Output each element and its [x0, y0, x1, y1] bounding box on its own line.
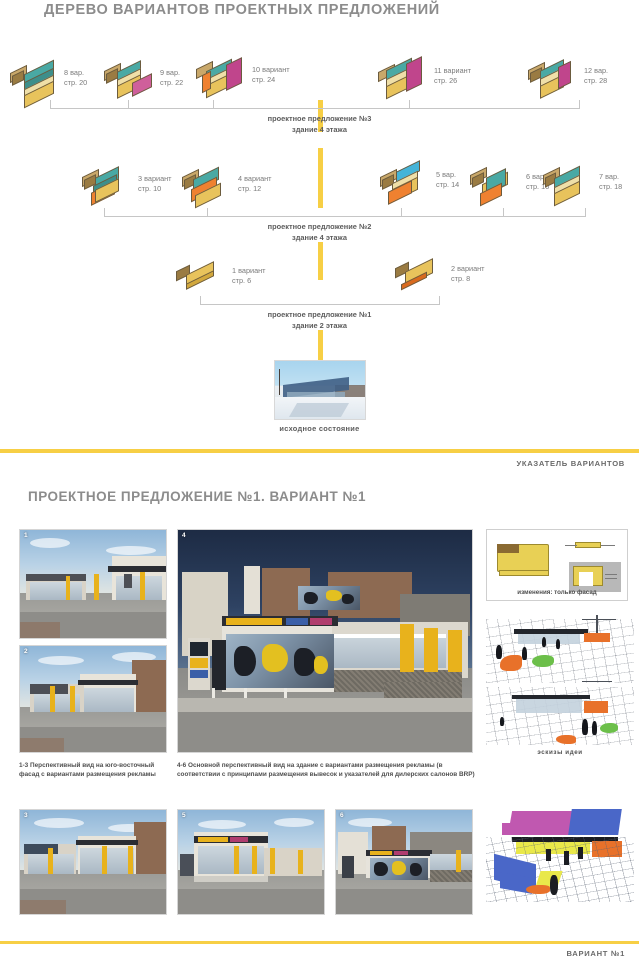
tier-caption: проектное предложение №3 здание 4 этажа — [0, 113, 639, 135]
sketches-caption: эскизы идеи — [486, 749, 634, 756]
roof-banner — [298, 586, 360, 610]
massing-icon — [104, 58, 156, 98]
photo-number: 5 — [182, 812, 186, 819]
variant-node[interactable]: 4 вариант стр. 12 — [182, 164, 272, 204]
caption-left: 1-3 Перспективный вид на юго-восточный ф… — [19, 761, 165, 780]
variant-label: 11 вариант стр. 26 — [434, 66, 471, 86]
massing-icon — [378, 56, 430, 96]
massing-icon — [380, 160, 432, 200]
page-title: ДЕРЕВО ВАРИАНТОВ ПРОЕКТНЫХ ПРЕДЛОЖЕНИЙ — [44, 2, 440, 18]
spine-segment-middle — [318, 148, 323, 208]
variant-node[interactable]: 6 вар. стр. 16 — [470, 162, 549, 202]
spine-segment-lower — [318, 242, 323, 280]
variant-label: 2 вариант стр. 8 — [451, 264, 485, 284]
variant-label: 5 вар. стр. 14 — [436, 170, 459, 190]
variant-label: 3 вариант стр. 10 — [138, 174, 172, 194]
variant-node[interactable]: 7 вар. стр. 18 — [543, 162, 622, 202]
render-thumbnail-6[interactable]: 6 — [335, 809, 473, 915]
facade-change-diagram[interactable]: изменения: только фасад — [486, 529, 628, 601]
tier-bracket — [200, 296, 440, 305]
existing-state-photo[interactable] — [274, 360, 366, 420]
massing-icon — [528, 56, 580, 96]
photo-number: 3 — [24, 812, 28, 819]
variant-node[interactable]: 10 вариант стр. 24 — [196, 55, 290, 95]
massing-icon — [395, 254, 447, 294]
massing-icon — [8, 58, 60, 98]
variant-label: 10 вариант стр. 24 — [252, 65, 290, 85]
photo-number: 2 — [24, 648, 28, 655]
massing-icon — [182, 164, 234, 204]
footer-rule — [0, 941, 639, 944]
photo-number: 1 — [24, 532, 28, 539]
diagram-caption: изменения: только фасад — [487, 589, 627, 596]
variant-node[interactable]: 1 вариант стр. 6 — [176, 256, 266, 296]
massing-icon — [196, 55, 248, 95]
render-thumbnail-5[interactable]: 5 — [177, 809, 325, 915]
footer-label: ВАРИАНТ №1 — [566, 949, 625, 958]
massing-icon — [82, 164, 134, 204]
variant-node[interactable]: 9 вар. стр. 22 — [104, 58, 183, 98]
concept-sketch[interactable] — [486, 797, 634, 909]
tier-bracket — [104, 208, 586, 217]
spine-segment-base — [318, 330, 323, 360]
render-thumbnail-3[interactable]: 3 — [19, 809, 167, 915]
variant-node[interactable]: 2 вариант стр. 8 — [395, 254, 485, 294]
variant-label: 12 вар. стр. 28 — [584, 66, 608, 86]
render-hero-4[interactable]: 4 — [177, 529, 473, 753]
variant-label: 8 вар. стр. 20 — [64, 68, 87, 88]
variant-node[interactable]: 12 вар. стр. 28 — [528, 56, 608, 96]
tier-caption: проектное предложение №1 здание 2 этажа — [0, 309, 639, 331]
tier-caption: проектное предложение №2 здание 4 этажа — [0, 221, 639, 243]
proposal-sheet-page: ПРОЕКТНОЕ ПРЕДЛОЖЕНИЕ №1. ВАРИАНТ №1 1 2 — [0, 449, 639, 960]
variant-node[interactable]: 11 вариант стр. 26 — [378, 56, 471, 96]
photo-number: 4 — [182, 532, 186, 539]
facade-mural — [226, 634, 334, 688]
variant-node[interactable]: 3 вариант стр. 10 — [82, 164, 172, 204]
variant-label: 1 вариант стр. 6 — [232, 266, 266, 286]
sheet-title: ПРОЕКТНОЕ ПРЕДЛОЖЕНИЕ №1. ВАРИАНТ №1 — [28, 489, 366, 504]
massing-icon — [543, 162, 595, 202]
variant-label: 9 вар. стр. 22 — [160, 68, 183, 88]
variant-label: 7 вар. стр. 18 — [599, 172, 622, 192]
variant-label: 4 вариант стр. 12 — [238, 174, 272, 194]
existing-state-caption: исходное состояние — [0, 424, 639, 433]
tier-bracket — [50, 100, 580, 109]
variant-tree-page: ДЕРЕВО ВАРИАНТОВ ПРОЕКТНЫХ ПРЕДЛОЖЕНИЙ 8… — [0, 0, 639, 447]
idea-sketches[interactable]: эскизы идеи — [486, 613, 634, 763]
variant-node[interactable]: 8 вар. стр. 20 — [8, 58, 87, 98]
render-thumbnail-1[interactable]: 1 — [19, 529, 167, 639]
massing-icon — [176, 256, 228, 296]
photo-number: 6 — [340, 812, 344, 819]
render-thumbnail-2[interactable]: 2 — [19, 645, 167, 753]
caption-main: 4-6 Основной перспективный вид на здание… — [177, 761, 477, 780]
variant-node[interactable]: 5 вар. стр. 14 — [380, 160, 459, 200]
massing-icon — [470, 162, 522, 202]
